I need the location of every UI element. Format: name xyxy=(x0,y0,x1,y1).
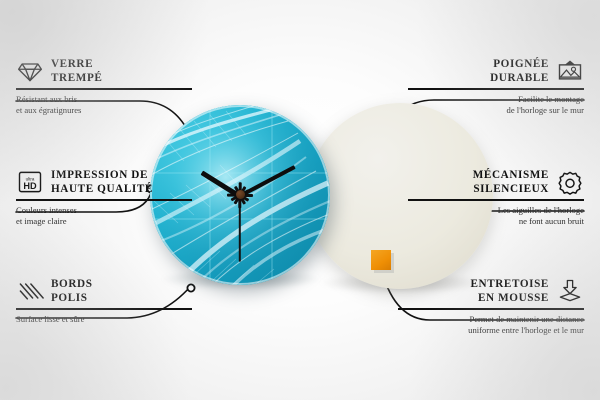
feature-desc-line1: Couleurs intenses xyxy=(16,205,192,217)
feature-head: ultra HD IMPRESSION DE HAUTE QUALITÉ xyxy=(16,168,192,196)
foam-spacer xyxy=(371,250,391,270)
feature-bords-polis: BORDS POLIS Surface lisse et sûre xyxy=(16,277,192,325)
foam-spacer-icon xyxy=(556,278,584,304)
polished-edges-icon xyxy=(16,278,44,304)
feature-title-line2: HAUTE QUALITÉ xyxy=(51,182,153,196)
feature-entretoise-en-mousse: ENTRETOISE EN MOUSSE Permet de maintenir… xyxy=(398,277,584,337)
feature-divider xyxy=(408,199,584,201)
feature-mecanisme-silencieux: MÉCANISME SILENCIEUX Les aiguilles de l'… xyxy=(408,168,584,228)
feature-desc-line2: uniforme entre l'horloge et le mur xyxy=(398,325,584,337)
feature-title-line1: POIGNÉE xyxy=(490,57,549,71)
feature-divider xyxy=(398,308,584,310)
feature-desc-line2: ne font aucun bruit xyxy=(408,216,584,228)
feature-title-line1: BORDS xyxy=(51,277,93,291)
feature-poignee-durable: POIGNÉE DURABLE Facilite le montage de l… xyxy=(408,57,584,117)
clock-center-cap xyxy=(236,190,245,199)
feature-desc-line1: Les aiguilles de l'horloge xyxy=(408,205,584,217)
ultra-hd-icon-label: HD xyxy=(23,181,37,191)
feature-divider xyxy=(16,199,192,201)
feature-description: Permet de maintenir une distance uniform… xyxy=(398,314,584,337)
feature-title-line2: SILENCIEUX xyxy=(473,182,549,196)
feature-desc-line2: et image claire xyxy=(16,216,192,228)
feature-title: ENTRETOISE EN MOUSSE xyxy=(470,277,549,305)
feature-description: Couleurs intenses et image claire xyxy=(16,205,192,228)
feature-desc-line1: Permet de maintenir une distance xyxy=(398,314,584,326)
feature-head: BORDS POLIS xyxy=(16,277,192,305)
feature-verre-trempe: VERRE TREMPÉ Résistant aux bris et aux é… xyxy=(16,57,192,117)
feature-title-line2: DURABLE xyxy=(490,71,549,85)
feature-title-line1: ENTRETOISE xyxy=(470,277,549,291)
feature-title-line1: MÉCANISME xyxy=(473,168,549,182)
feature-title-line1: IMPRESSION DE xyxy=(51,168,153,182)
gear-icon xyxy=(556,169,584,195)
feature-description: Résistant aux bris et aux égratignures xyxy=(16,94,192,117)
feature-divider xyxy=(408,88,584,90)
clock-second-hand xyxy=(239,196,241,262)
feature-description: Facilite le montage de l'horloge sur le … xyxy=(408,94,584,117)
feature-desc-line1: Résistant aux bris xyxy=(16,94,192,106)
feature-desc-line1: Surface lisse et sûre xyxy=(16,314,192,326)
feature-head: ENTRETOISE EN MOUSSE xyxy=(398,277,584,305)
feature-divider xyxy=(16,88,192,90)
feature-title: BORDS POLIS xyxy=(51,277,93,305)
feature-impression-haute-qualite: ultra HD IMPRESSION DE HAUTE QUALITÉ Cou… xyxy=(16,168,192,228)
ultra-hd-icon: ultra HD xyxy=(16,169,44,195)
feature-title: VERRE TREMPÉ xyxy=(51,57,102,85)
feature-desc-line2: et aux égratignures xyxy=(16,105,192,117)
diamond-icon xyxy=(16,58,44,84)
feature-divider xyxy=(16,308,192,310)
feature-head: VERRE TREMPÉ xyxy=(16,57,192,85)
feature-title: MÉCANISME SILENCIEUX xyxy=(473,168,549,196)
feature-title-line2: POLIS xyxy=(51,291,93,305)
picture-hanger-icon xyxy=(556,58,584,84)
feature-desc-line2: de l'horloge sur le mur xyxy=(408,105,584,117)
feature-title-line2: EN MOUSSE xyxy=(470,291,549,305)
feature-title-line1: VERRE xyxy=(51,57,102,71)
infographic-canvas: VERRE TREMPÉ Résistant aux bris et aux é… xyxy=(0,0,600,400)
feature-title-line2: TREMPÉ xyxy=(51,71,102,85)
feature-head: POIGNÉE DURABLE xyxy=(408,57,584,85)
feature-description: Les aiguilles de l'horloge ne font aucun… xyxy=(408,205,584,228)
feature-title: POIGNÉE DURABLE xyxy=(490,57,549,85)
feature-head: MÉCANISME SILENCIEUX xyxy=(408,168,584,196)
feature-title: IMPRESSION DE HAUTE QUALITÉ xyxy=(51,168,153,196)
feature-desc-line1: Facilite le montage xyxy=(408,94,584,106)
feature-description: Surface lisse et sûre xyxy=(16,314,192,326)
